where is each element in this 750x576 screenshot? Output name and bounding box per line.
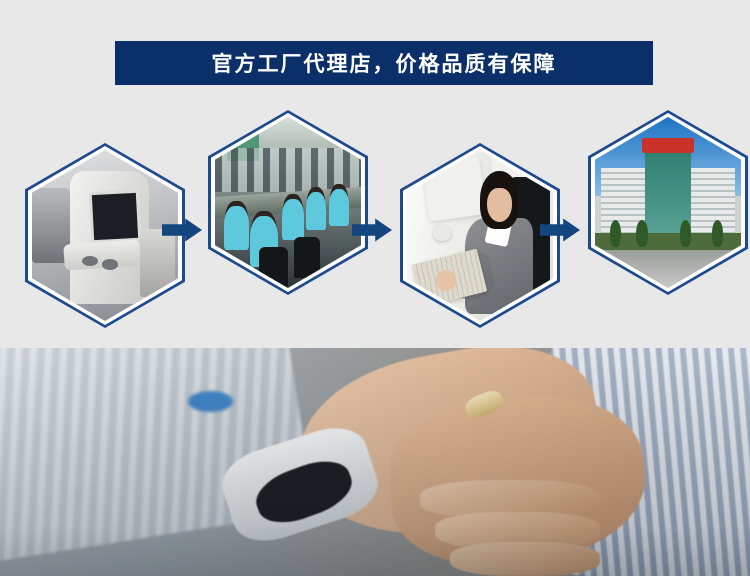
building-rooftop-sign [642, 138, 695, 153]
promo-page: 官方工厂代理店，价格品质有保障 [0, 0, 750, 576]
machine-knob [82, 256, 98, 266]
handshake-banner: 诚信专业，珍视每一份信赖 正 正品保证 7 [0, 348, 750, 576]
staff-face [487, 188, 512, 222]
process-step-factory [208, 110, 368, 295]
factory-worker [306, 192, 326, 230]
process-step-medical-equipment [25, 143, 185, 328]
arrow-right-icon [540, 217, 580, 243]
factory-worker [224, 206, 249, 250]
process-flow [0, 95, 750, 330]
factory-machines [215, 148, 361, 192]
tree [610, 220, 622, 247]
factory-worker [282, 199, 304, 240]
tree [680, 220, 692, 247]
header-banner: 官方工厂代理店，价格品质有保障 [115, 41, 653, 85]
office-mouse [433, 225, 451, 240]
process-step-company-building [588, 110, 748, 295]
flow-arrow [162, 217, 202, 243]
tree [636, 220, 648, 247]
machine-screen [89, 190, 141, 244]
flow-arrow [540, 217, 580, 243]
arrow-right-icon [162, 217, 202, 243]
factory-worker [329, 189, 349, 227]
office-monitor [421, 156, 487, 222]
machine-knob [102, 259, 118, 269]
road [595, 250, 741, 288]
process-step-office [400, 143, 560, 328]
arrow-right-icon [352, 217, 392, 243]
image-overlay [0, 348, 750, 576]
tree [712, 220, 724, 247]
page-title: 官方工厂代理店，价格品质有保障 [212, 48, 557, 78]
flow-arrow [352, 217, 392, 243]
